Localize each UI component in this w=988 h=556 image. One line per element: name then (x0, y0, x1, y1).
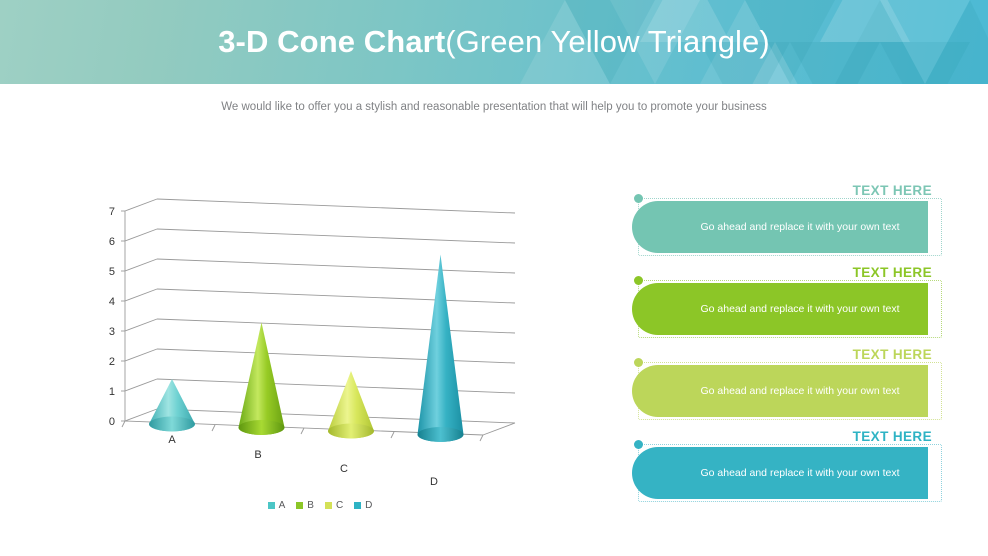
y-tick-label: 5 (109, 266, 115, 278)
callout-title: TEXT HERE (853, 347, 932, 362)
page-subtitle: We would like to offer you a stylish and… (0, 101, 988, 113)
y-tick-label: 2 (109, 356, 115, 368)
page-title: 3-D Cone Chart (Green Yellow Triangle) (0, 0, 988, 84)
callout-dot-icon (634, 358, 643, 367)
callout-dot-icon (634, 440, 643, 449)
x-tick-label: C (340, 463, 348, 475)
callout-body[interactable]: Go ahead and replace it with your own te… (632, 283, 928, 335)
callout-title: TEXT HERE (853, 265, 932, 280)
y-tick-label: 1 (109, 386, 115, 398)
y-tick-label: 6 (109, 236, 115, 248)
chart-x-tick-labels: A B C D (168, 434, 438, 488)
x-tick-label: B (254, 449, 261, 461)
cone-base-d (418, 427, 464, 442)
callout-row-4[interactable]: TEXT HERE Go ahead and replace it with y… (632, 426, 942, 508)
callout-row-1[interactable]: TEXT HERE Go ahead and replace it with y… (632, 180, 942, 262)
page-header: 3-D Cone Chart (Green Yellow Triangle) (0, 0, 988, 84)
legend-swatch-c (325, 502, 332, 509)
cone-d (418, 255, 464, 443)
callout-body[interactable]: Go ahead and replace it with your own te… (632, 365, 928, 417)
legend-swatch-a (268, 502, 275, 509)
y-tick-label: 4 (109, 296, 115, 308)
chart-y-tick-labels: 7 6 5 4 3 2 1 0 (109, 206, 115, 428)
x-tick-label: A (168, 434, 176, 446)
callout-title: TEXT HERE (853, 183, 932, 198)
callout-row-2[interactable]: TEXT HERE Go ahead and replace it with y… (632, 262, 942, 344)
legend-label: D (365, 500, 372, 511)
legend-label: C (336, 500, 343, 511)
callout-title: TEXT HERE (853, 429, 932, 444)
page-title-light: (Green Yellow Triangle) (445, 24, 770, 60)
cone-base-a (149, 417, 195, 432)
chart-legend: A B C D (95, 500, 545, 511)
legend-item[interactable]: B (296, 500, 314, 511)
cone-chart-svg: 7 6 5 4 3 2 1 0 A B C D (95, 195, 545, 495)
y-tick-label: 3 (109, 326, 115, 338)
text-callout-panel: TEXT HERE Go ahead and replace it with y… (632, 180, 942, 508)
callout-body[interactable]: Go ahead and replace it with your own te… (632, 447, 928, 499)
legend-item[interactable]: D (354, 500, 372, 511)
x-tick-label: D (430, 476, 438, 488)
chart-y-ticks (121, 211, 125, 421)
chart-cones (149, 255, 464, 443)
cone-chart: 7 6 5 4 3 2 1 0 A B C D (95, 195, 545, 495)
callout-row-3[interactable]: TEXT HERE Go ahead and replace it with y… (632, 344, 942, 426)
legend-item[interactable]: A (268, 500, 286, 511)
cone-base-b (239, 420, 285, 435)
legend-label: A (279, 500, 286, 511)
callout-dot-icon (634, 276, 643, 285)
page-title-bold: 3-D Cone Chart (218, 24, 445, 60)
legend-label: B (307, 500, 314, 511)
y-tick-label: 0 (109, 416, 115, 428)
callout-body[interactable]: Go ahead and replace it with your own te… (632, 201, 928, 253)
legend-swatch-d (354, 502, 361, 509)
cone-base-c (328, 424, 374, 439)
y-tick-label: 7 (109, 206, 115, 218)
legend-item[interactable]: C (325, 500, 343, 511)
legend-swatch-b (296, 502, 303, 509)
callout-dot-icon (634, 194, 643, 203)
cone-b (239, 323, 285, 436)
